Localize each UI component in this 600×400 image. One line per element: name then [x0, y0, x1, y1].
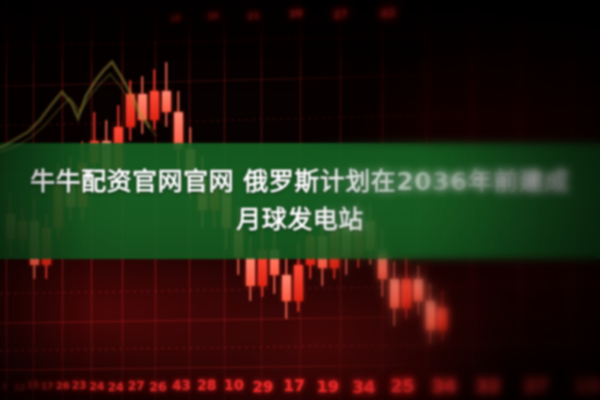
axis-label-bottom: 17: [283, 377, 305, 395]
candle-body: [294, 265, 303, 301]
axis-label-bottom: 26: [149, 379, 167, 394]
axis-label-top: 38: [207, 12, 220, 23]
axis-label-bottom: 26: [56, 381, 70, 392]
candle-body: [414, 279, 423, 301]
axis-label-top: 42: [379, 5, 397, 21]
axis-label-top: 21: [246, 10, 260, 23]
candle-body: [282, 275, 291, 300]
axis-label-bottom: 28: [197, 378, 216, 394]
axis-label-bottom: 23: [72, 380, 86, 392]
axis-label-bottom: 18: [575, 376, 600, 397]
headline-line-1: 牛牛配资官网官网 俄罗斯计划在2036年前建成: [30, 165, 570, 199]
axis-label-bottom: 37: [523, 376, 548, 397]
candle-body: [246, 257, 255, 286]
candle-body: [162, 91, 171, 113]
axis-label-bottom: 34: [432, 376, 457, 397]
axis-label-bottom: 32: [476, 376, 501, 397]
axis-label-bottom: 12: [14, 382, 25, 392]
axis-label-top: 18: [169, 13, 181, 23]
axis-label-bottom: 10: [224, 378, 244, 394]
axis-top-labels: 183821392742: [0, 0, 600, 30]
candle-body: [126, 94, 135, 127]
news-banner-image: 183821392742 牛牛配资官网官网 俄罗斯计划在2036年前建成 月球发…: [0, 0, 600, 400]
candle-body: [426, 301, 435, 330]
headline-text-block: 牛牛配资官网官网 俄罗斯计划在2036年前建成 月球发电站: [0, 143, 600, 259]
axis-label-bottom: 43: [172, 379, 191, 394]
axis-label-top: 27: [332, 7, 349, 22]
axis-label-bottom: 29: [253, 378, 274, 396]
candle-body: [390, 279, 399, 308]
candle-body: [438, 308, 447, 330]
axis-label-bottom: 24: [89, 380, 104, 393]
axis-label-bottom: 27: [128, 379, 145, 393]
headline-line-2: 月球发电站: [236, 203, 364, 237]
candle-body: [138, 94, 147, 119]
axis-label-bottom: 34: [352, 377, 375, 397]
candle-body: [150, 91, 159, 120]
axis-label-bottom: 15: [27, 381, 39, 391]
axis-label-bottom: 8: [2, 382, 7, 391]
axis-bottom-labels: 8121517262324242726432810291719342534323…: [0, 368, 600, 400]
axis-label-top: 39: [288, 8, 303, 21]
axis-label-bottom: 19: [317, 377, 340, 396]
axis-label-bottom: 17: [41, 381, 54, 392]
axis-label-bottom: 25: [390, 377, 414, 397]
axis-label-bottom: 24: [108, 380, 124, 394]
candle-body: [402, 279, 411, 308]
